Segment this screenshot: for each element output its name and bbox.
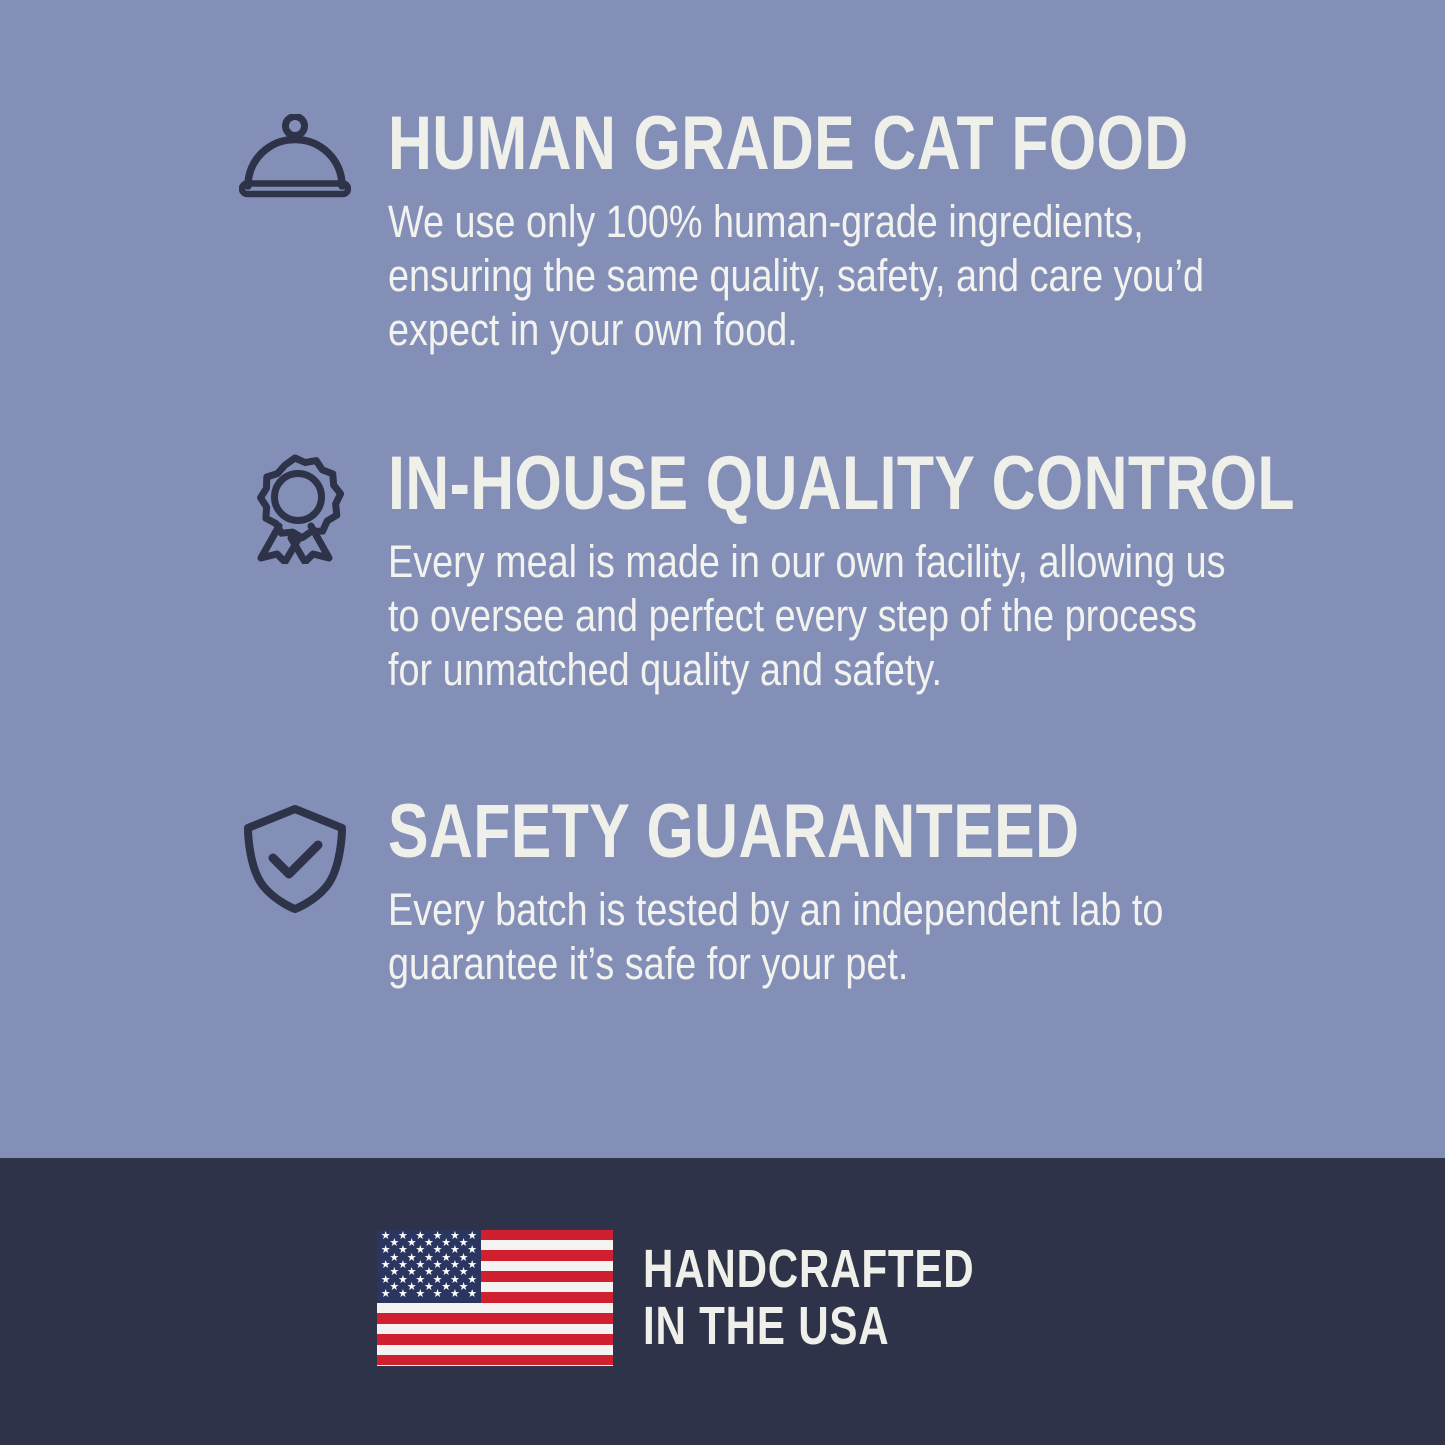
flag-star: ★ xyxy=(397,1290,408,1299)
feature-item-human-grade-cat-food: HUMAN GRADE CAT FOOD We use only 100% hu… xyxy=(0,108,1445,357)
footer-banner: ★★★★★★★★★★★★★★★★★★★★★★★★★★★★★★★★★★★★★★★★… xyxy=(0,1158,1445,1445)
flag-stripe xyxy=(377,1313,613,1323)
feature-title: HUMAN GRADE CAT FOOD xyxy=(388,108,1189,179)
feature-description: Every batch is tested by an independent … xyxy=(388,883,1163,991)
product-feature-poster: HUMAN GRADE CAT FOOD We use only 100% hu… xyxy=(0,0,1445,1445)
feature-description-line: to oversee and perfect every step of the… xyxy=(388,589,1340,643)
cloche-icon xyxy=(234,108,356,200)
feature-description-line: expect in your own food. xyxy=(388,303,1229,357)
flag-star: ★ xyxy=(449,1290,460,1299)
flag-canton: ★★★★★★★★★★★★★★★★★★★★★★★★★★★★★★★★★★★★★★★★… xyxy=(377,1230,481,1303)
flag-star: ★ xyxy=(415,1290,426,1299)
feature-body: SAFETY GUARANTEED Every batch is tested … xyxy=(356,796,1445,991)
feature-item-in-house-quality-control: IN-HOUSE QUALITY CONTROL Every meal is m… xyxy=(0,448,1445,697)
flag-stripe xyxy=(377,1355,613,1365)
footer-content: ★★★★★★★★★★★★★★★★★★★★★★★★★★★★★★★★★★★★★★★★… xyxy=(377,1230,1068,1366)
feature-body: IN-HOUSE QUALITY CONTROL Every meal is m… xyxy=(356,448,1445,697)
feature-description-line: We use only 100% human-grade ingredients… xyxy=(388,195,1229,249)
footer-tagline-line-1: HANDCRAFTED xyxy=(643,1241,974,1297)
feature-description-line: ensuring the same quality, safety, and c… xyxy=(388,249,1229,303)
flag-star: ★ xyxy=(467,1290,478,1299)
shield-check-icon xyxy=(234,796,356,914)
footer-tagline: HANDCRAFTED IN THE USA xyxy=(643,1241,974,1353)
award-ribbon-icon xyxy=(234,448,356,564)
flag-stripe xyxy=(377,1334,613,1344)
feature-body: HUMAN GRADE CAT FOOD We use only 100% hu… xyxy=(356,108,1445,357)
footer-tagline-line-2: IN THE USA xyxy=(643,1298,974,1354)
usa-flag-icon: ★★★★★★★★★★★★★★★★★★★★★★★★★★★★★★★★★★★★★★★★… xyxy=(377,1230,613,1366)
flag-star: ★ xyxy=(380,1290,391,1299)
feature-title: SAFETY GUARANTEED xyxy=(388,796,1127,867)
feature-description-line: guarantee it’s safe for your pet. xyxy=(388,937,1163,991)
feature-description-line: Every meal is made in our own facility, … xyxy=(388,535,1340,589)
feature-description: Every meal is made in our own facility, … xyxy=(388,535,1340,697)
feature-list: HUMAN GRADE CAT FOOD We use only 100% hu… xyxy=(0,0,1445,1158)
feature-description: We use only 100% human-grade ingredients… xyxy=(388,195,1229,357)
feature-description-line: for unmatched quality and safety. xyxy=(388,643,1340,697)
feature-title: IN-HOUSE QUALITY CONTROL xyxy=(388,448,1295,519)
flag-star: ★ xyxy=(432,1290,443,1299)
feature-item-safety-guaranteed: SAFETY GUARANTEED Every batch is tested … xyxy=(0,796,1445,991)
feature-description-line: Every batch is tested by an independent … xyxy=(388,883,1163,937)
